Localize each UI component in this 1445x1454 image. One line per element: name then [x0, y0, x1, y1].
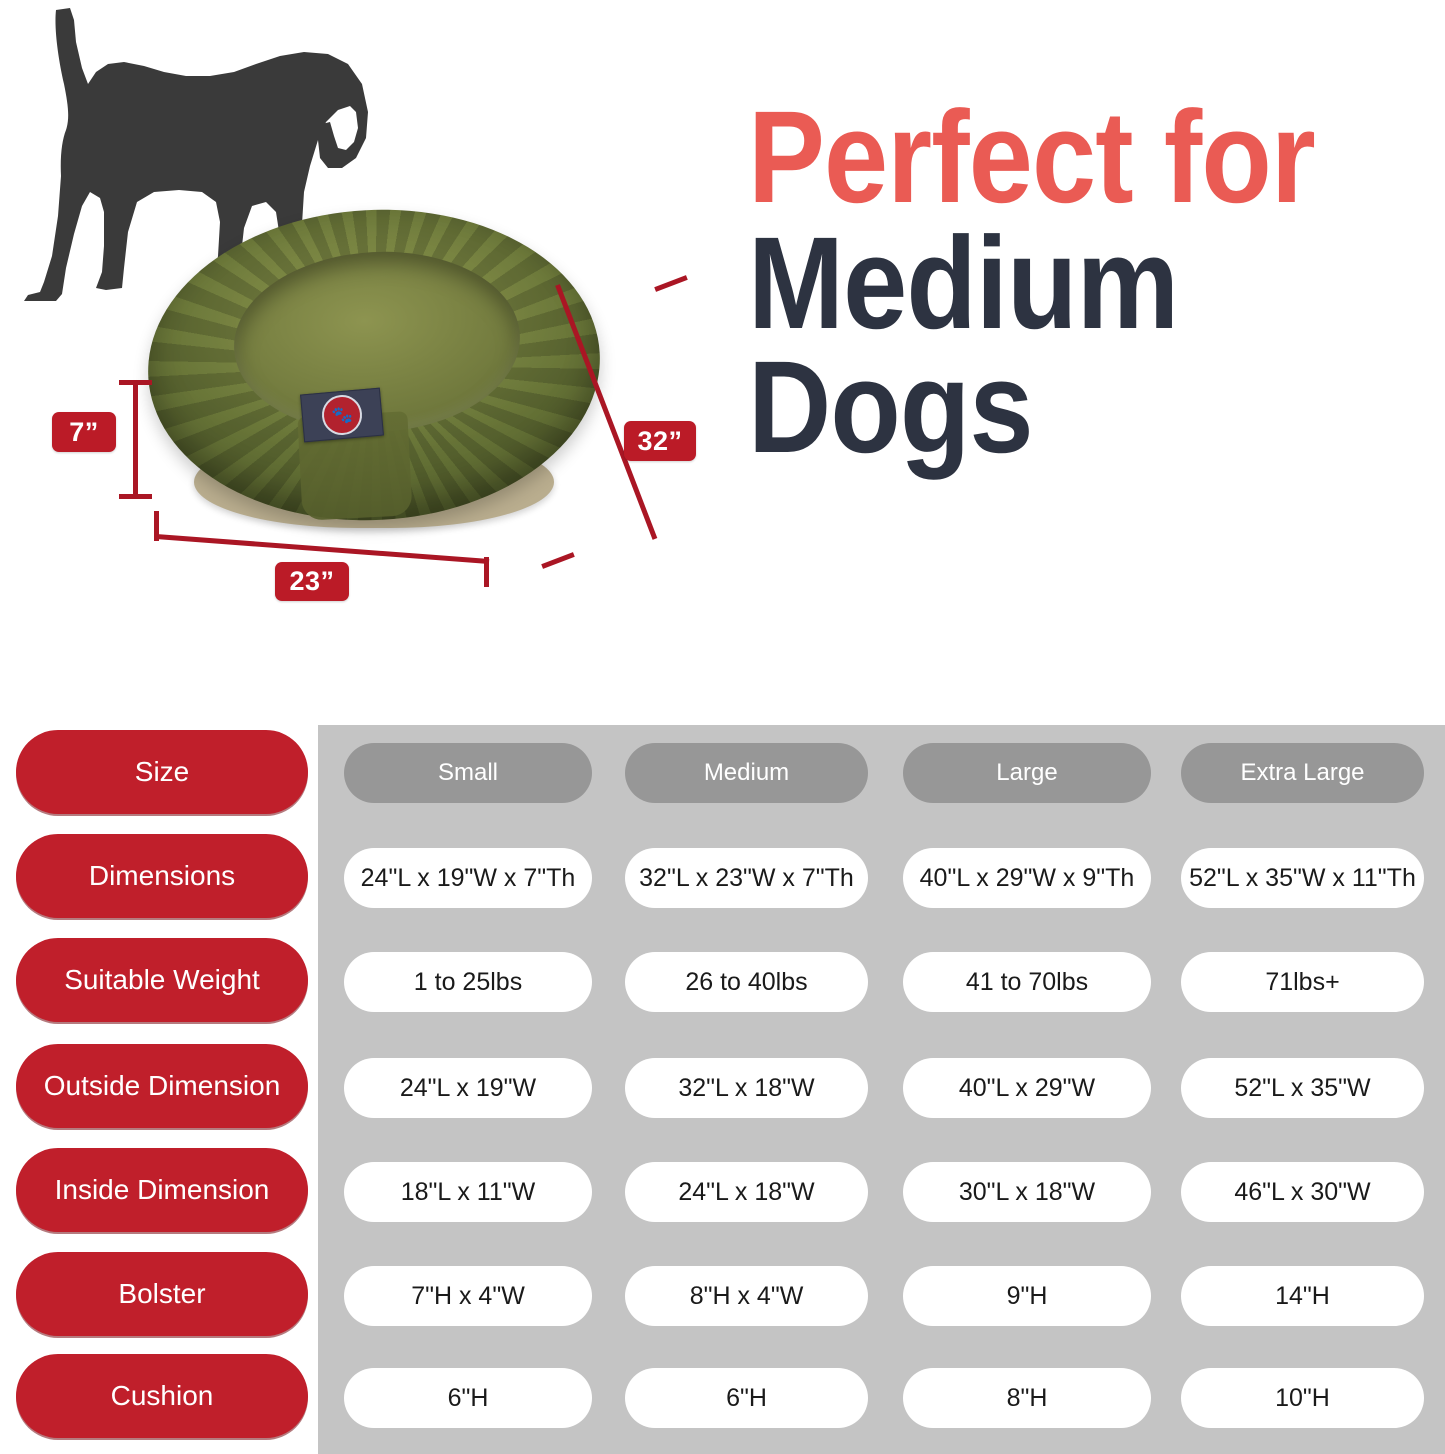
row-label-inside-dimension: Inside Dimension [16, 1148, 308, 1232]
row-label-size: Size [16, 730, 308, 814]
table-cell: 32"L x 18"W [625, 1058, 868, 1118]
table-cell: 18"L x 11"W [344, 1162, 592, 1222]
table-cell: 52"L x 35"W [1181, 1058, 1424, 1118]
column-header-medium: Medium [625, 743, 868, 803]
headline-line-1: Perfect for [748, 96, 1355, 218]
table-cell: 46"L x 30"W [1181, 1162, 1424, 1222]
row-label-bolster: Bolster [16, 1252, 308, 1336]
height-dimension-line [133, 382, 138, 498]
height-dimension-cap-top [119, 380, 152, 385]
table-cell: 7"H x 4"W [344, 1266, 592, 1326]
size-chart-table: SmallMediumLargeExtra Large24"L x 19"W x… [0, 700, 1445, 1454]
column-header-extra-large: Extra Large [1181, 743, 1424, 803]
width-dimension-cap-right [484, 557, 489, 587]
column-header-small: Small [344, 743, 592, 803]
table-cell: 40"L x 29"W [903, 1058, 1151, 1118]
length-dimension-label: 32” [624, 421, 696, 461]
table-cell: 26 to 40lbs [625, 952, 868, 1012]
table-cell: 10"H [1181, 1368, 1424, 1428]
table-cell: 14"H [1181, 1266, 1424, 1326]
row-label-suitable-weight: Suitable Weight [16, 938, 308, 1022]
table-cell: 40"L x 29"W x 9"Th [903, 848, 1151, 908]
table-cell: 9"H [903, 1266, 1151, 1326]
column-header-large: Large [903, 743, 1151, 803]
table-cell: 24"L x 19"W x 7"Th [344, 848, 592, 908]
table-cell: 71lbs+ [1181, 952, 1424, 1012]
row-label-outside-dimension: Outside Dimension [16, 1044, 308, 1128]
paw-print-icon: 🐾 [331, 406, 354, 425]
table-cell: 41 to 70lbs [903, 952, 1151, 1012]
table-cell: 52"L x 35"W x 11"Th [1181, 848, 1424, 908]
headline-line-2: Medium [748, 222, 1355, 344]
table-cell: 8"H x 4"W [625, 1266, 868, 1326]
table-background-panel: SmallMediumLargeExtra Large24"L x 19"W x… [318, 725, 1445, 1454]
table-cell: 1 to 25lbs [344, 952, 592, 1012]
width-dimension-cap-left [154, 511, 159, 541]
length-dimension-cap-top [654, 275, 688, 292]
dog-bed-product-image: 🐾 [142, 196, 612, 556]
width-dimension-label: 23” [275, 562, 349, 601]
height-dimension-label: 7” [52, 412, 116, 452]
brand-tag: 🐾 [300, 388, 384, 443]
table-cell: 8"H [903, 1368, 1151, 1428]
row-label-cushion: Cushion [16, 1354, 308, 1438]
majestic-pet-logo: 🐾 [320, 393, 363, 436]
table-cell: 24"L x 18"W [625, 1162, 868, 1222]
hero-section: 🐾 7” 23” 32” Perfect for Medium Dogs [0, 0, 1445, 700]
row-label-column: SizeDimensionsSuitable WeightOutside Dim… [8, 700, 308, 1454]
row-label-dimensions: Dimensions [16, 834, 308, 918]
headline-line-3: Dogs [748, 346, 1355, 468]
height-dimension-cap-bottom [119, 494, 152, 499]
headline-block: Perfect for Medium Dogs [748, 96, 1438, 467]
table-cell: 6"H [344, 1368, 592, 1428]
table-cell: 6"H [625, 1368, 868, 1428]
table-cell: 24"L x 19"W [344, 1058, 592, 1118]
table-cell: 32"L x 23"W x 7"Th [625, 848, 868, 908]
table-cell: 30"L x 18"W [903, 1162, 1151, 1222]
